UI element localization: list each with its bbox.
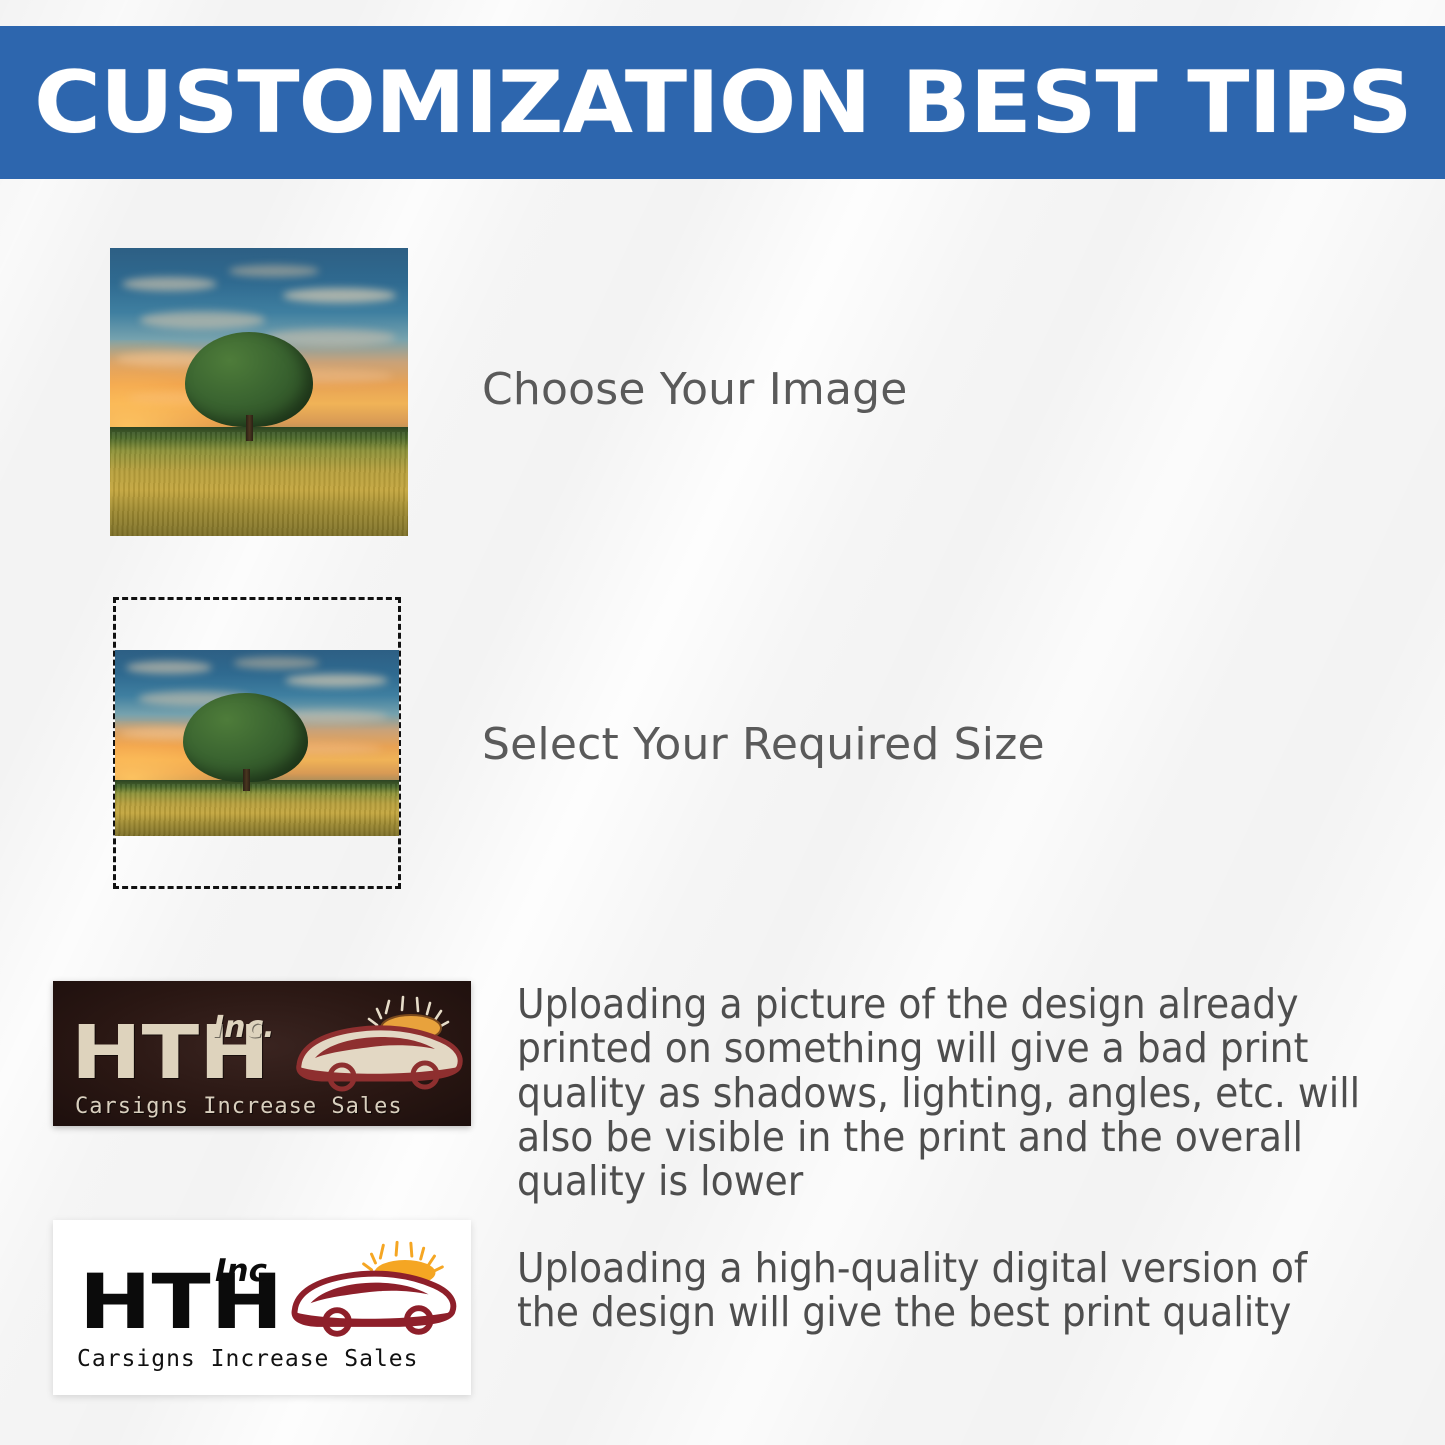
page-title: CUSTOMIZATION BEST TIPS xyxy=(34,60,1412,146)
logo-suffix: Inc. xyxy=(213,1013,275,1043)
cloud xyxy=(122,277,217,291)
step-label-good-upload: Uploading a high-quality digital version… xyxy=(517,1246,1363,1335)
tree-trunk xyxy=(246,415,254,441)
cloud xyxy=(283,288,396,302)
hth-logo-dark: HTH Inc. Carsigns Increase Sales xyxy=(53,981,471,1126)
cloud xyxy=(229,265,318,277)
printed-banner-photo: HTH Inc. Carsigns Increase Sales xyxy=(53,981,471,1126)
sunset-tree-scene-cropped xyxy=(115,650,399,836)
step-label-select-size: Select Your Required Size xyxy=(482,721,1045,769)
header-banner: CUSTOMIZATION BEST TIPS xyxy=(0,26,1445,179)
sunset-tree-scene xyxy=(110,248,408,536)
step-label-choose-image: Choose Your Image xyxy=(482,366,908,414)
step-label-bad-upload: Uploading a picture of the design alread… xyxy=(517,982,1428,1203)
square-landscape-photo xyxy=(110,248,408,536)
car-with-sunburst-icon xyxy=(285,995,470,1095)
wheat-field xyxy=(110,432,408,536)
logo-suffix: Inc. xyxy=(215,1256,279,1287)
hth-logo-light: HTH Inc. Carsigns Increase Sales xyxy=(53,1220,471,1395)
logo-tagline: Carsigns Increase Sales xyxy=(77,1348,419,1371)
digital-logo-file: HTH Inc. Carsigns Increase Sales xyxy=(53,1220,471,1395)
cloud xyxy=(234,657,319,668)
car-with-sunburst-icon xyxy=(281,1238,463,1343)
wheat-field xyxy=(115,784,399,836)
logo-tagline: Carsigns Increase Sales xyxy=(75,1096,403,1118)
cloud xyxy=(140,311,265,328)
tree-crown xyxy=(185,332,313,427)
tree-trunk xyxy=(243,769,250,791)
infographic-page: CUSTOMIZATION BEST TIPS Choose Your Imag… xyxy=(0,0,1445,1445)
cropped-landscape-photo xyxy=(115,650,399,836)
